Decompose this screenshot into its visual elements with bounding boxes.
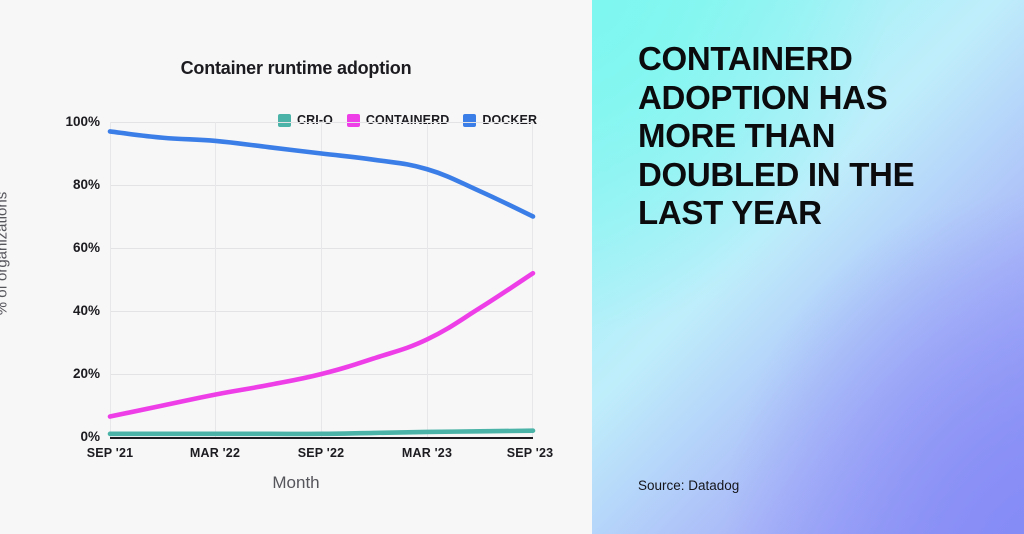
x-tick-mar-22: MAR '22 (155, 446, 275, 460)
x-tick-sep-23: SEP '23 (470, 446, 590, 460)
headline-text: Containerd adoption has more than double… (638, 40, 990, 233)
infographic-root: Container runtime adoption CRI-O CONTAIN… (0, 0, 1024, 534)
chart-panel: Container runtime adoption CRI-O CONTAIN… (0, 0, 592, 534)
source-attribution: Source: Datadog (638, 478, 739, 493)
y-tick-80: 80% (32, 177, 100, 192)
y-tick-40: 40% (32, 303, 100, 318)
y-tick-100: 100% (32, 114, 100, 129)
y-axis-title: % of organizations (0, 44, 11, 464)
y-tick-60: 60% (32, 240, 100, 255)
x-tick-mar-23: MAR '23 (367, 446, 487, 460)
x-tick-sep-21: SEP '21 (50, 446, 170, 460)
x-tick-sep-22: SEP '22 (261, 446, 381, 460)
axis-labels: 100% 80% 60% 40% 20% 0% SEP '21 MAR '22 … (0, 0, 592, 534)
x-axis-title: Month (0, 473, 592, 493)
y-tick-20: 20% (32, 366, 100, 381)
headline-panel: Containerd adoption has more than double… (592, 0, 1024, 534)
y-tick-0: 0% (32, 429, 100, 444)
